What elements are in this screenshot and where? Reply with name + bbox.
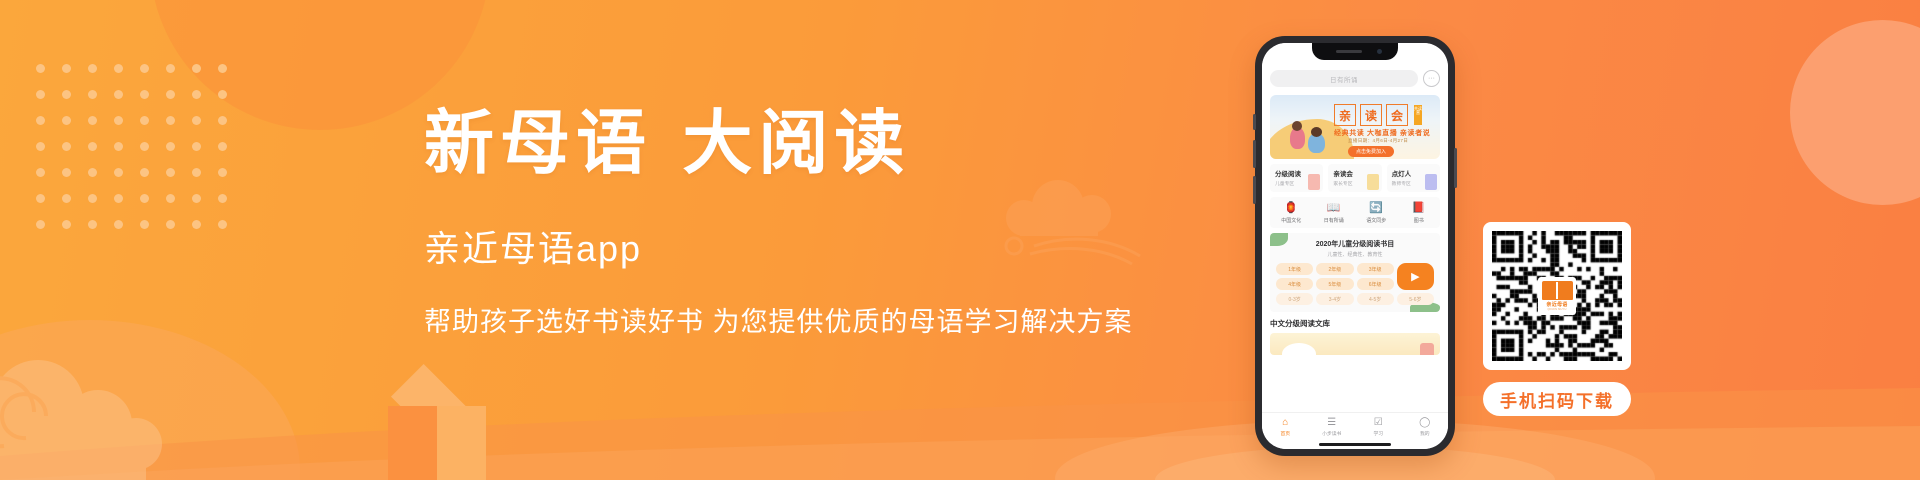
promo-card[interactable]: 亲 读 会 共读营 经典共读 大咖直播 亲读者说 直播日期：4月6日-4月27日… [1270,95,1440,159]
app-tab-bar: ⌂ 首页 ☰ 小步读书 ☑ 学习 ◯ 我的 [1262,412,1448,440]
promo-date: 直播日期：4月6日-4月27日 [1348,138,1408,144]
age-chip[interactable]: 5-6岁 [1397,293,1434,305]
tab-home[interactable]: ⌂ 首页 [1262,417,1309,437]
quick-icon-chinese-culture[interactable]: 🏮 中国文化 [1270,202,1313,224]
quick-icon-label: 语文同步 [1355,217,1398,224]
logo-pinyin: QINJIN MUYU [1547,308,1566,311]
category-card-graded-reading[interactable]: 分级阅读 儿童专区 [1270,164,1323,192]
isometric-cube-decoration [378,360,496,480]
page-title: 新母语 大阅读 [424,108,1244,178]
grade-chip[interactable]: 4年级 [1276,278,1313,290]
booklist-subtitle: 儿童性、经典性、教育性 [1276,251,1434,258]
grade-chip[interactable]: 5年级 [1316,278,1353,290]
category-card-lamplighter[interactable]: 点灯人 教师专区 [1387,164,1440,192]
tab-study[interactable]: ☑ 学习 [1355,417,1402,437]
book-logo-icon [1542,281,1573,300]
tab-label: 我的 [1402,430,1449,437]
quick-icon-books[interactable]: 📕 图书 [1398,202,1441,224]
phone-mockup: 日有所诵 ··· 亲 读 会 共读营 经典共读 大咖直播 亲读者说 直 [1255,36,1455,456]
promo-subtitle: 经典共读 大咖直播 亲读者说 [1334,128,1430,138]
list-icon: ☰ [1309,417,1356,429]
app-name: 亲近母语app [424,220,1244,272]
clipboard-icon: ☑ [1355,417,1402,429]
quick-icon-label: 图书 [1398,217,1441,224]
dot-grid-decoration [36,64,244,246]
grade-chip[interactable]: 6年级 [1357,278,1394,290]
tab-label: 首页 [1262,430,1309,437]
promo-title: 亲 读 会 共读营 [1334,104,1422,126]
promo-title-char-2: 读 [1360,104,1382,126]
grade-chip[interactable]: 1年级 [1276,263,1313,275]
play-video-icon[interactable]: ▶ [1397,263,1434,290]
grade-filter-list: 1年级 2年级 3年级 ▶ 4年级 5年级 6年级 0-3岁 3-4岁 4-5岁… [1276,263,1434,305]
user-icon: ◯ [1402,417,1449,429]
book-pink-icon [1308,174,1320,190]
auspicious-cloud-bottom-left [0,348,246,480]
search-placeholder: 日有所诵 [1330,74,1358,84]
message-icon[interactable]: ··· [1423,70,1440,87]
phone-notch [1312,43,1398,60]
scan-download-button[interactable]: 手机扫码下载 [1483,382,1631,416]
quick-icon-label: 中国文化 [1270,217,1313,224]
phone-screen: 日有所诵 ··· 亲 读 会 共读营 经典共读 大咖直播 亲读者说 直 [1262,43,1448,449]
tab-label: 学习 [1355,430,1402,437]
phone-power-button [1454,148,1457,188]
age-chip[interactable]: 4-5岁 [1357,293,1394,305]
phone-mute-switch [1253,114,1256,130]
tab-reading[interactable]: ☰ 小步读书 [1309,417,1356,437]
quick-icon-curriculum-sync[interactable]: 🔄 语文同步 [1355,202,1398,224]
app-search-row: 日有所诵 ··· [1262,65,1448,93]
library-block-decoration [1420,343,1434,355]
category-card-reading-club[interactable]: 亲读会 家长专区 [1328,164,1381,192]
quick-icon-row: 🏮 中国文化 📖 日有所诵 🔄 语文同步 📕 图书 [1270,197,1440,228]
age-chip[interactable]: 0-3岁 [1276,293,1313,305]
category-card-list: 分级阅读 儿童专区 亲读会 家长专区 点灯人 教师专区 [1270,164,1440,192]
banner-tagline: 帮助孩子选好书读好书 为您提供优质的母语学习解决方案 [424,300,1244,339]
front-camera-icon [1377,49,1382,54]
promo-title-char-3: 会 [1386,104,1408,126]
promo-title-char-1: 亲 [1334,104,1356,126]
ground-curves-decoration [0,330,1920,480]
decorative-circle-top-right [1790,20,1920,205]
grade-chip[interactable]: 2年级 [1316,263,1353,275]
quick-icon-daily-recitation[interactable]: 📖 日有所诵 [1313,202,1356,224]
library-section-title: 中文分级阅读文库 [1270,318,1440,329]
quick-icon-label: 日有所诵 [1313,217,1356,224]
lantern-icon: 🏮 [1270,202,1313,215]
promo-cta-button[interactable]: 点击免费加入 [1348,146,1394,157]
kid-illustration-1 [1290,127,1305,149]
promo-banner: 新母语 大阅读 亲近母语app 帮助孩子选好书读好书 为您提供优质的母语学习解决… [0,0,1920,480]
library-arc-decoration [1282,343,1316,355]
search-input[interactable]: 日有所诵 [1270,70,1418,87]
home-icon: ⌂ [1262,417,1309,429]
logo-title: 亲近母语 [1546,301,1567,308]
person-purple-icon [1425,174,1437,190]
book-icon: 📕 [1398,202,1441,215]
age-chip[interactable]: 3-4岁 [1316,293,1353,305]
tab-profile[interactable]: ◯ 我的 [1402,417,1449,437]
qr-download-block: 亲近母语 QINJIN MUYU 手机扫码下载 [1483,222,1631,416]
book-yellow-icon [1367,174,1379,190]
sync-icon: 🔄 [1355,202,1398,215]
home-indicator [1319,443,1391,446]
phone-volume-down-button [1253,176,1256,204]
speaker-icon [1336,50,1362,53]
grade-chip[interactable]: 3年级 [1357,263,1394,275]
booklist-title: 2020年儿童分级阅读书目 [1276,239,1434,249]
open-book-icon: 📖 [1313,202,1356,215]
library-card[interactable] [1270,333,1440,355]
kid-illustration-2 [1308,133,1325,153]
qr-code: 亲近母语 QINJIN MUYU [1483,222,1631,370]
tab-label: 小步读书 [1309,430,1356,437]
banner-copy: 新母语 大阅读 亲近母语app 帮助孩子选好书读好书 为您提供优质的母语学习解决… [424,108,1244,339]
promo-seal: 共读营 [1414,105,1422,125]
brand-logo: 亲近母语 QINJIN MUYU [1538,277,1576,315]
booklist-card: 2020年儿童分级阅读书目 儿童性、经典性、教育性 1年级 2年级 3年级 ▶ … [1270,233,1440,312]
phone-volume-up-button [1253,140,1256,168]
